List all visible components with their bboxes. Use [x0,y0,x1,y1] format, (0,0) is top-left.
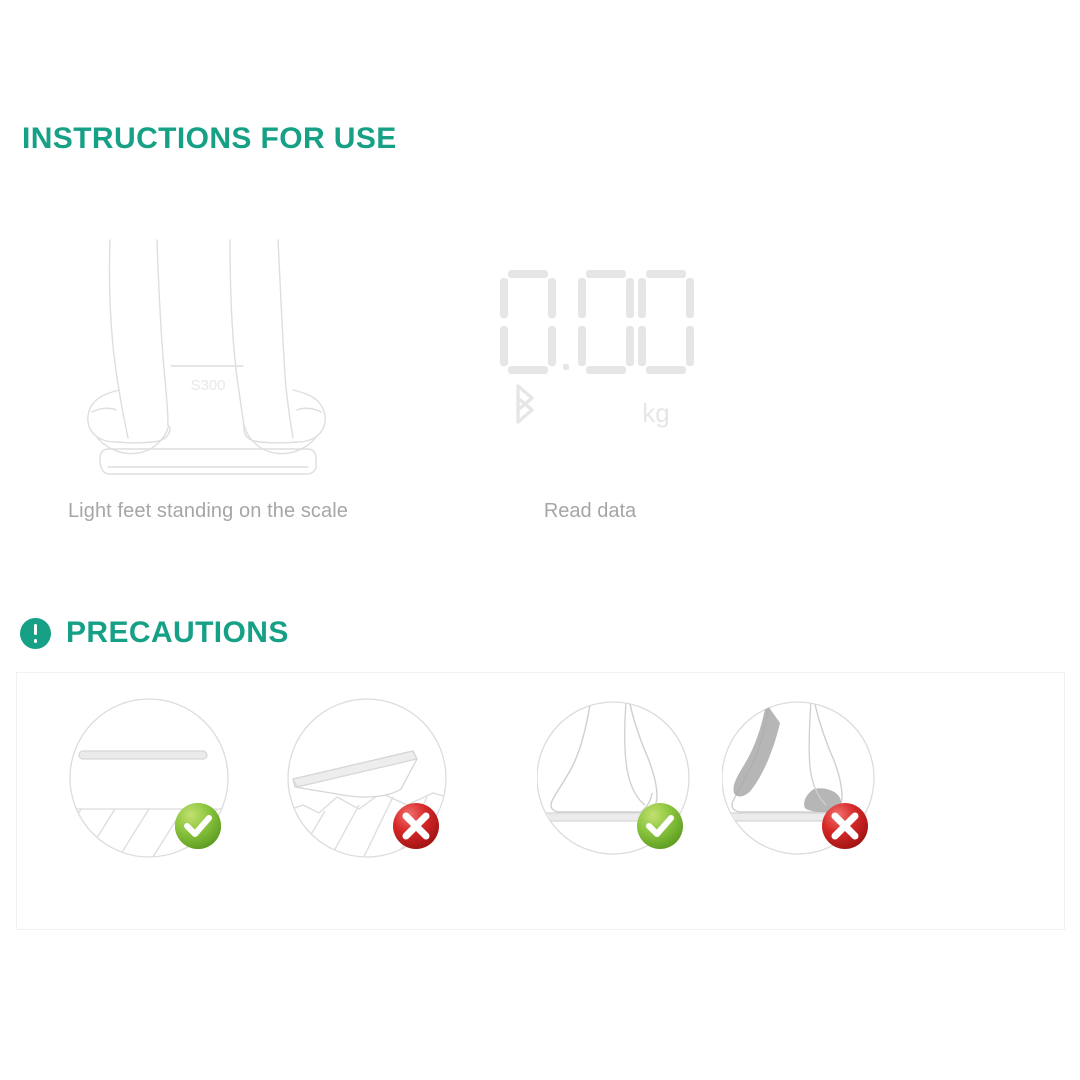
bare-foot-on-scale-icon [537,693,697,868]
precaution-item-sock-foot [722,693,882,873]
precaution-item-bare-foot [537,693,697,873]
instruction-step-standing: S300 Light feet standing on the scale [48,230,368,523]
precautions-title: PRECAUTIONS [66,616,289,650]
precautions-panel [16,672,1065,930]
scale-on-hard-flat-floor-icon [67,693,237,868]
lcd-display-illustration: kg [430,230,750,480]
svg-text:kg: kg [642,398,669,428]
precaution-item-uneven-soft-floor [285,693,455,873]
precautions-list [17,693,1064,873]
instruction-step-caption: Read data [430,500,750,523]
precaution-item-hard-flat-floor [67,693,237,873]
instruction-step-caption: Light feet standing on the scale [48,500,368,523]
svg-text:S300: S300 [190,377,225,394]
instruction-step-read: kg Read data [430,230,750,523]
sock-foot-on-scale-icon [722,693,882,868]
page-root: INSTRUCTIONS FOR USE [0,0,1080,1080]
exclamation-circle-icon [20,618,51,649]
scale-on-uneven-carpet-floor-icon [285,693,455,868]
feet-on-scale-illustration: S300 [48,230,368,480]
instruction-steps: S300 Light feet standing on the scale [0,230,1080,550]
instructions-title: INSTRUCTIONS FOR USE [22,122,397,156]
precautions-header: PRECAUTIONS [20,616,289,650]
